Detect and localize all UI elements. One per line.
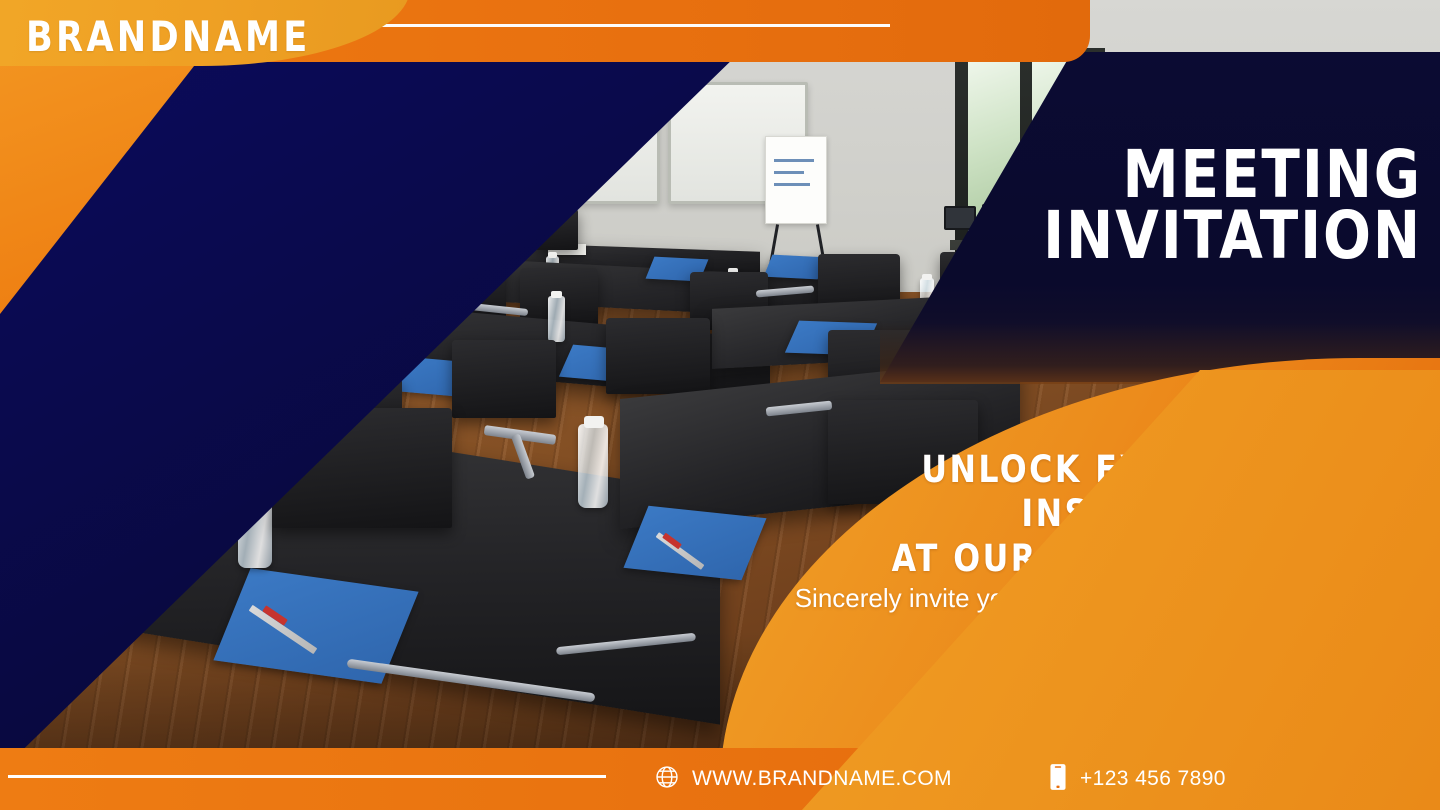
website-text: WWW.BRANDNAME.COM xyxy=(692,767,952,791)
footer-contacts: WWW.BRANDNAME.COM +123 456 7890 xyxy=(640,748,1440,810)
phone-contact[interactable]: +123 456 7890 xyxy=(1048,763,1226,796)
page-title: MEETING INVITATION xyxy=(882,144,1422,267)
footer-accent-line xyxy=(8,775,606,778)
phone-text: +123 456 7890 xyxy=(1080,767,1226,791)
title-line-2: INVITATION xyxy=(909,205,1422,266)
mobile-phone-icon xyxy=(1048,763,1068,796)
meeting-invitation-poster: MEETING INVITATION UNLOCK EXCLUSIVE INSI… xyxy=(0,0,1440,810)
brand-name: BRANDNAME xyxy=(26,12,311,61)
globe-icon xyxy=(654,764,680,795)
brand-overlay: MEETING INVITATION UNLOCK EXCLUSIVE INSI… xyxy=(0,0,1440,810)
website-contact[interactable]: WWW.BRANDNAME.COM xyxy=(654,764,952,795)
title-line-1: MEETING xyxy=(909,144,1422,205)
